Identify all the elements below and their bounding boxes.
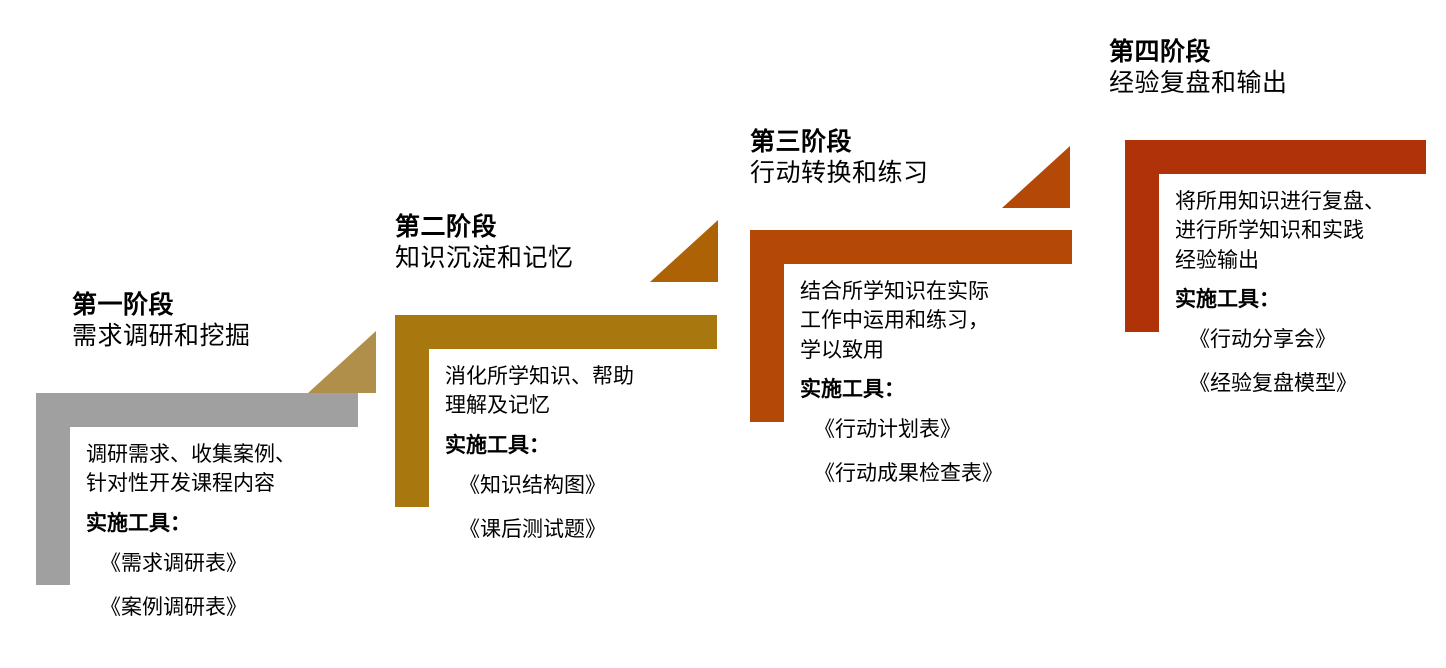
stage-4-bracket-left-leg [1125, 140, 1159, 332]
stage-1-bracket-left-leg [36, 393, 70, 585]
stage-1-tool-item: 《需求调研表》 [100, 547, 354, 577]
stage-2-bracket-top-bar [395, 315, 717, 349]
stage-4-subtitle: 经验复盘和输出 [1109, 68, 1409, 99]
stage-3-description: 结合所学知识在实际 工作中运用和练习， 学以致用 [800, 277, 1068, 365]
stage-4-description: 将所用知识进行复盘、 进行所学知识和实践 经验输出 [1175, 187, 1443, 275]
stage-4-body: 将所用知识进行复盘、 进行所学知识和实践 经验输出 实施工具： 《行动分享会》 … [1175, 187, 1443, 411]
stage-4-tool-item: 《经验复盘模型》 [1189, 367, 1443, 397]
stage-3-bracket-left-leg [750, 230, 784, 422]
stage-1-body: 调研需求、收集案例、 针对性开发课程内容 实施工具： 《需求调研表》 《案例调研… [86, 440, 354, 635]
stage-2-corner-triangle [650, 220, 718, 282]
stage-1-tools-label: 实施工具： [86, 507, 354, 537]
stage-3-corner-triangle [1002, 146, 1070, 208]
stage-1-tool-item: 《案例调研表》 [100, 591, 354, 621]
stage-4-heading: 第四阶段 经验复盘和输出 [1109, 37, 1409, 98]
stage-1-description: 调研需求、收集案例、 针对性开发课程内容 [86, 440, 354, 499]
stage-4-title: 第四阶段 [1109, 37, 1409, 68]
process-diagram: 第一阶段 需求调研和挖掘 调研需求、收集案例、 针对性开发课程内容 实施工具： … [0, 0, 1446, 668]
stage-1-corner-triangle [308, 331, 376, 393]
stage-3-body: 结合所学知识在实际 工作中运用和练习， 学以致用 实施工具： 《行动计划表》 《… [800, 277, 1068, 501]
stage-2-tool-item: 《课后测试题》 [459, 513, 713, 543]
stage-4-bracket-top-bar [1125, 140, 1426, 174]
stage-1-bracket-top-bar [36, 393, 358, 427]
stage-3-tool-item: 《行动成果检查表》 [814, 457, 1068, 487]
stage-2-description: 消化所学知识、帮助 理解及记忆 [445, 362, 713, 421]
stage-2-bracket-left-leg [395, 315, 429, 507]
stage-4-tool-item: 《行动分享会》 [1189, 323, 1443, 353]
stage-2-tool-item: 《知识结构图》 [459, 469, 713, 499]
stage-3-bracket-top-bar [750, 230, 1072, 264]
stage-3-tools-label: 实施工具： [800, 373, 1068, 403]
stage-2-body: 消化所学知识、帮助 理解及记忆 实施工具： 《知识结构图》 《课后测试题》 [445, 362, 713, 557]
stage-4-tools-label: 实施工具： [1175, 283, 1443, 313]
stage-3-tool-item: 《行动计划表》 [814, 413, 1068, 443]
stage-2-tools-label: 实施工具： [445, 429, 713, 459]
stage-1-title: 第一阶段 [72, 290, 372, 321]
